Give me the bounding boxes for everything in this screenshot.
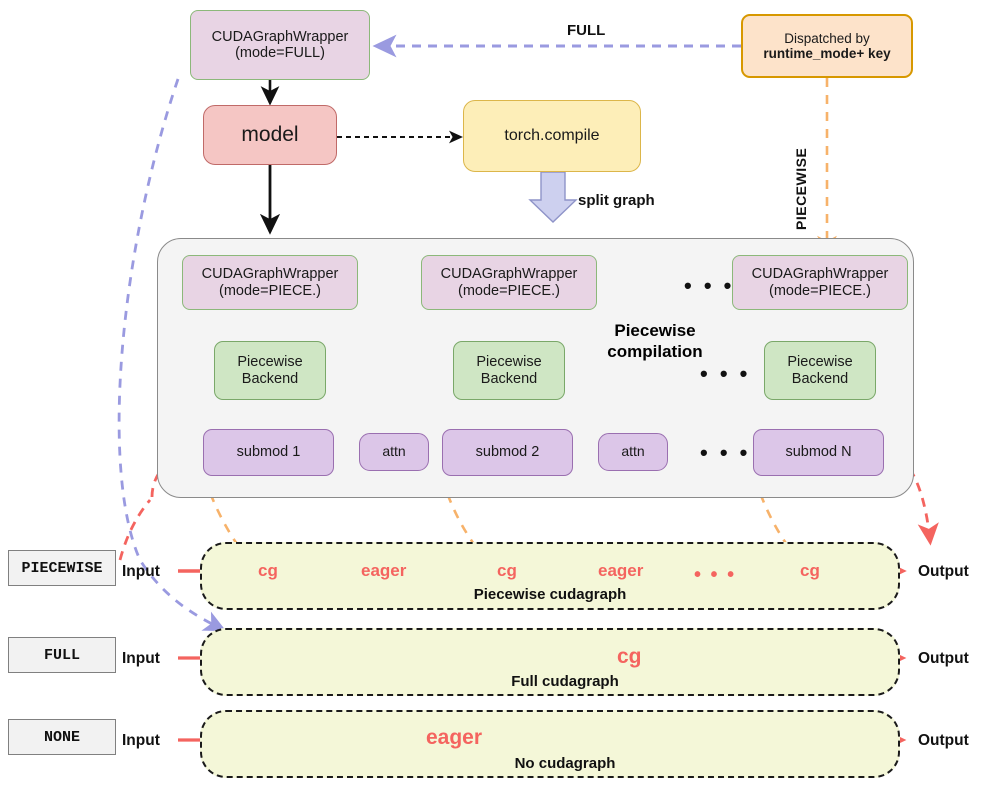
input-label-full: Input [122, 650, 160, 668]
attn-2-label: attn [621, 444, 644, 460]
lane-piecewise-step-5: cg [800, 561, 820, 581]
split-graph-arrow [530, 172, 576, 222]
backend-1-line1: Piecewise [237, 354, 302, 370]
backend-2-line1: Piecewise [476, 354, 541, 370]
cudagraph-wrapper-piece-1[interactable]: CUDAGraphWrapper (mode=PIECE.) [182, 255, 358, 310]
piecewise-compilation-label: Piecewise compilation [580, 320, 730, 363]
mode-chip-full[interactable]: FULL [8, 637, 116, 673]
mode-chip-piecewise[interactable]: PIECEWISE [8, 550, 116, 586]
output-label-full: Output [918, 650, 969, 668]
backend-n-line2: Backend [792, 371, 848, 387]
mode-chip-none[interactable]: NONE [8, 719, 116, 755]
torch-compile-label: torch.compile [504, 127, 599, 145]
torch-compile-box[interactable]: torch.compile [463, 100, 641, 172]
split-graph-label: split graph [578, 192, 655, 209]
submod-2-label: submod 2 [476, 444, 540, 460]
submod-1-label: submod 1 [237, 444, 301, 460]
wrapper-piece-1-line2: (mode=PIECE.) [219, 283, 321, 299]
pc-label-line1: Piecewise [614, 321, 695, 340]
submod-n-box[interactable]: submod N [753, 429, 884, 476]
edge-input-to-submod [120, 500, 150, 560]
wrapper-piece-1-line1: CUDAGraphWrapper [202, 266, 339, 282]
lane-full-step-1: cg [617, 645, 642, 669]
lane-full-caption: Full cudagraph [475, 673, 655, 690]
submod-2-box[interactable]: submod 2 [442, 429, 573, 476]
piecewise-backend-n[interactable]: Piecewise Backend [764, 341, 876, 400]
wrapper-piece-2-line1: CUDAGraphWrapper [441, 266, 578, 282]
lane-none-step-1: eager [426, 726, 482, 750]
backend-2-line2: Backend [481, 371, 537, 387]
edge-label-full: FULL [567, 22, 605, 39]
model-label: model [241, 123, 298, 147]
output-label-none: Output [918, 732, 969, 750]
backend-n-line1: Piecewise [787, 354, 852, 370]
dispatch-line1: Dispatched by [784, 31, 870, 46]
lane-piecewise-caption: Piecewise cudagraph [450, 586, 650, 603]
wrapper-full-line1: CUDAGraphWrapper [212, 29, 349, 45]
dispatch-key-suffix: + key [856, 46, 890, 61]
lane-piecewise-step-2: eager [361, 561, 406, 581]
lane-piecewise-step-3: cg [497, 561, 517, 581]
model-box[interactable]: model [203, 105, 337, 165]
submod-1-box[interactable]: submod 1 [203, 429, 334, 476]
submod-n-label: submod N [785, 444, 851, 460]
piecewise-backend-2[interactable]: Piecewise Backend [453, 341, 565, 400]
pc-label-line2: compilation [607, 342, 702, 361]
ellipsis-wrapper-row: • • • [684, 275, 734, 297]
wrapper-piece-n-line1: CUDAGraphWrapper [752, 266, 889, 282]
dispatcher-box[interactable]: Dispatched by runtime_mode+ key [741, 14, 913, 78]
edge-label-piecewise: PIECEWISE [793, 100, 809, 230]
ellipsis-submod-row: • • • [700, 442, 750, 464]
wrapper-piece-2-line2: (mode=PIECE.) [458, 283, 560, 299]
output-label-piecewise: Output [918, 563, 969, 581]
lane-none-caption: No cudagraph [475, 755, 655, 772]
lane-piecewise-step-4: eager [598, 561, 643, 581]
input-label-none: Input [122, 732, 160, 750]
wrapper-piece-n-line2: (mode=PIECE.) [769, 283, 871, 299]
cudagraph-wrapper-piece-n[interactable]: CUDAGraphWrapper (mode=PIECE.) [732, 255, 908, 310]
attn-1-label: attn [382, 444, 405, 460]
lane-piecewise-ellipsis: • • • [694, 565, 736, 585]
wrapper-full-line2: (mode=FULL) [235, 45, 325, 61]
cudagraph-wrapper-full-box[interactable]: CUDAGraphWrapper (mode=FULL) [190, 10, 370, 80]
diagram-canvas: CUDAGraphWrapper (mode=FULL) FULL Dispat… [0, 0, 985, 800]
dispatch-line2: runtime_mode+ key [763, 46, 890, 61]
dispatch-runtime-mode: runtime_mode [763, 46, 856, 61]
input-label-piecewise: Input [122, 563, 160, 581]
backend-1-line2: Backend [242, 371, 298, 387]
piecewise-backend-1[interactable]: Piecewise Backend [214, 341, 326, 400]
attn-2-box[interactable]: attn [598, 433, 668, 471]
attn-1-box[interactable]: attn [359, 433, 429, 471]
ellipsis-backend-row: • • • [700, 363, 750, 385]
lane-piecewise-step-1: cg [258, 561, 278, 581]
cudagraph-wrapper-piece-2[interactable]: CUDAGraphWrapper (mode=PIECE.) [421, 255, 597, 310]
